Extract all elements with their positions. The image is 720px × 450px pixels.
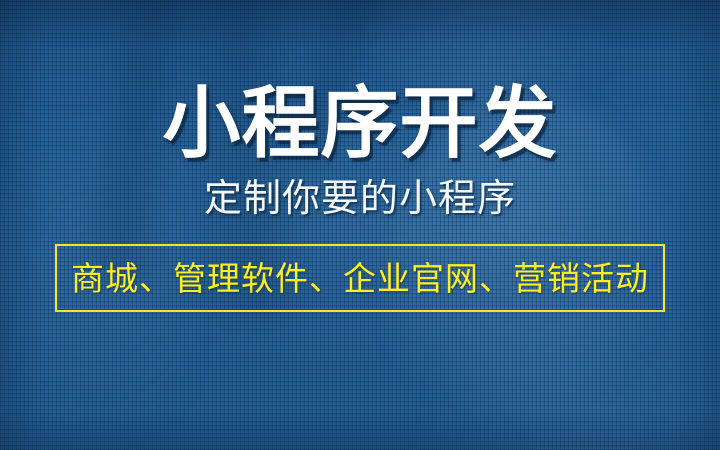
banner-subheadline: 定制你要的小程序 [204, 180, 516, 218]
services-callout-box: 商城、管理软件、企业官网、营销活动 [55, 244, 665, 312]
promo-banner: 小程序开发 定制你要的小程序 商城、管理软件、企业官网、营销活动 [0, 0, 720, 450]
services-list-text: 商城、管理软件、企业官网、营销活动 [71, 262, 649, 295]
banner-headline: 小程序开发 [162, 84, 557, 162]
banner-content: 小程序开发 定制你要的小程序 商城、管理软件、企业官网、营销活动 [0, 0, 720, 450]
